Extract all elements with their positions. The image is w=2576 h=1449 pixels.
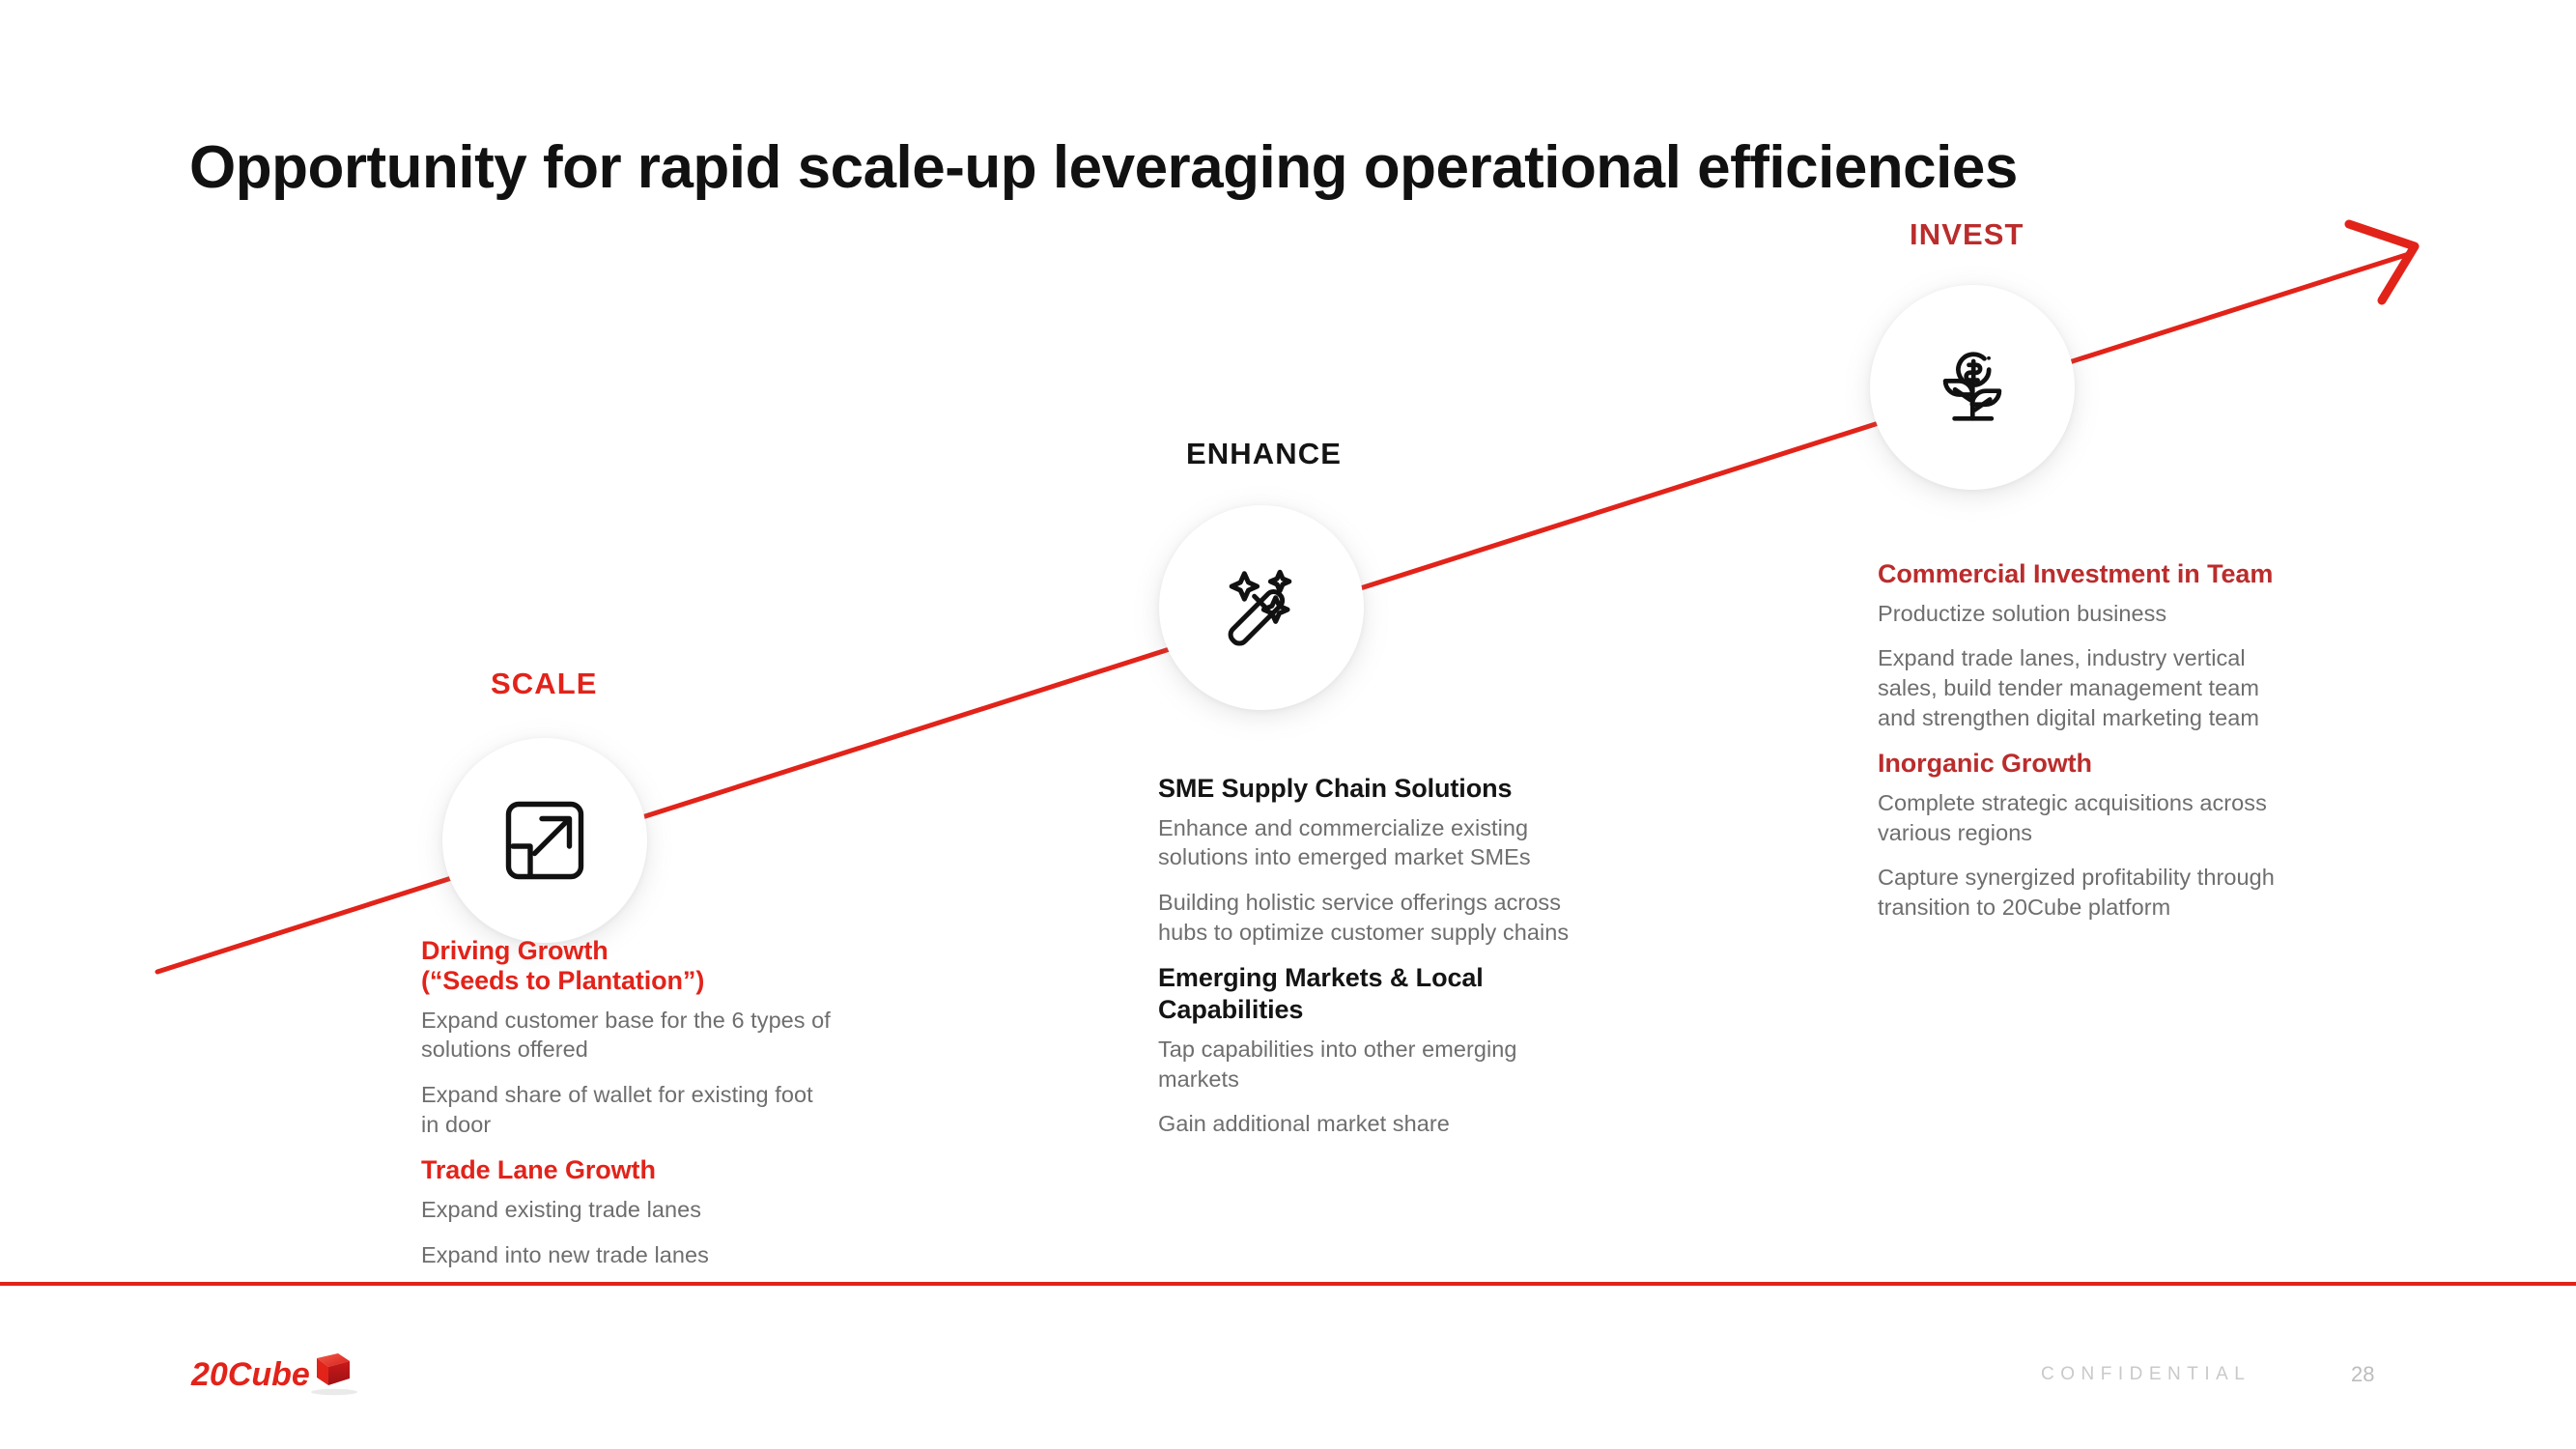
group-bullet: Building holistic service offerings acro… <box>1158 888 1573 947</box>
group-bullet: Expand existing trade lanes <box>421 1195 836 1225</box>
slide-canvas: Opportunity for rapid scale-up leveragin… <box>0 0 2576 1449</box>
group-bullet: Expand trade lanes, industry vertical sa… <box>1878 643 2283 732</box>
group-bullet: Expand share of wallet for existing foot… <box>421 1080 836 1139</box>
expand-arrow-icon <box>498 794 591 887</box>
group-bullet: Gain additional market share <box>1158 1109 1573 1139</box>
text-group: SME Supply Chain Solutions Enhance and c… <box>1158 773 1573 947</box>
text-group: Commercial Investment in Team Productize… <box>1878 558 2283 732</box>
group-heading: Trade Lane Growth <box>421 1154 836 1186</box>
group-bullet: Expand customer base for the 6 types of … <box>421 1006 836 1065</box>
stage-kicker-enhance: ENHANCE <box>1186 437 1342 471</box>
logo-wordmark: 20Cube <box>190 1356 310 1393</box>
group-heading: Driving Growth <box>421 935 836 967</box>
stage-text-scale: Driving Growth (“Seeds to Plantation”) E… <box>421 935 836 1285</box>
stage-text-enhance: SME Supply Chain Solutions Enhance and c… <box>1158 773 1573 1154</box>
group-bullet: Expand into new trade lanes <box>421 1240 836 1270</box>
money-plant-icon <box>1927 342 2018 433</box>
group-bullet: Capture synergized profitability through… <box>1878 863 2283 922</box>
text-group: Driving Growth (“Seeds to Plantation”) E… <box>421 935 836 1139</box>
brand-logo: 20Cube <box>189 1350 382 1401</box>
page-title: Opportunity for rapid scale-up leveragin… <box>189 133 2018 202</box>
stage-icon-circle-scale <box>442 738 647 943</box>
stage-text-invest: Commercial Investment in Team Productize… <box>1878 558 2283 937</box>
group-heading: Inorganic Growth <box>1878 748 2283 780</box>
text-group: Trade Lane Growth Expand existing trade … <box>421 1154 836 1269</box>
group-heading: SME Supply Chain Solutions <box>1158 773 1573 805</box>
stage-kicker-scale: SCALE <box>491 667 598 701</box>
stage-kicker-invest: INVEST <box>1910 217 2024 252</box>
group-heading: Commercial Investment in Team <box>1878 558 2283 590</box>
magic-wand-icon <box>1216 562 1307 653</box>
confidential-label: CONFIDENTIAL <box>2041 1364 2250 1385</box>
page-number: 28 <box>2351 1362 2374 1387</box>
cube-glyph <box>317 1353 350 1385</box>
stage-icon-circle-enhance <box>1159 505 1364 710</box>
group-bullet: Tap capabilities into other emerging mar… <box>1158 1035 1573 1094</box>
text-group: Inorganic Growth Complete strategic acqu… <box>1878 748 2283 922</box>
group-heading-line2: (“Seeds to Plantation”) <box>421 965 836 997</box>
text-group: Emerging Markets & Local Capabilities Ta… <box>1158 962 1573 1139</box>
footer-divider <box>0 1282 2576 1286</box>
group-heading: Emerging Markets & Local Capabilities <box>1158 962 1573 1026</box>
group-bullet: Complete strategic acquisitions across v… <box>1878 788 2283 847</box>
group-bullet: Enhance and commercialize existing solut… <box>1158 813 1573 872</box>
group-bullet: Productize solution business <box>1878 599 2283 629</box>
stage-icon-circle-invest <box>1870 285 2075 490</box>
